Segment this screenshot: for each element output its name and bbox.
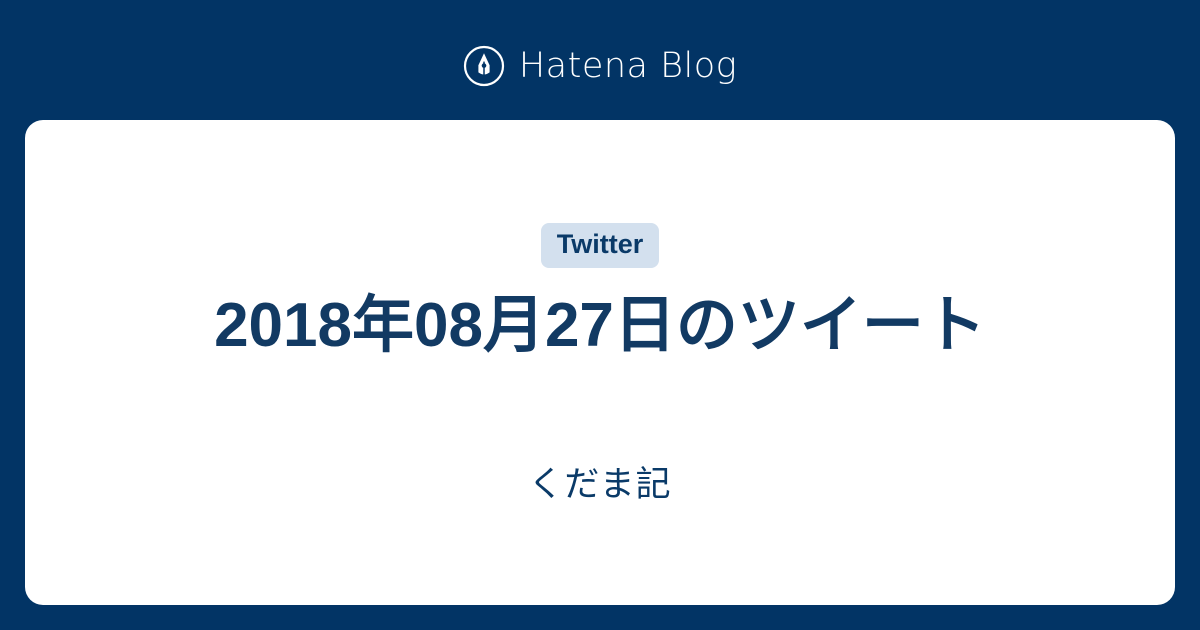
category-badge-row: Twitter	[25, 223, 1175, 268]
entry-card-content: Twitter 2018年08月27日のツイート くだま記	[25, 223, 1175, 501]
hatena-blog-logo	[463, 45, 505, 87]
entry-title: 2018年08月27日のツイート	[214, 290, 986, 361]
brand-name-label: Hatena Blog	[519, 49, 737, 84]
pen-nib-icon	[463, 45, 505, 87]
entry-card: Twitter 2018年08月27日のツイート くだま記	[25, 120, 1175, 605]
hatena-blog-brand: Hatena Blog	[0, 38, 1200, 94]
og-image-canvas: Hatena Blog Twitter 2018年08月27日のツイート くだま…	[0, 0, 1200, 630]
blog-name: くだま記	[528, 467, 671, 502]
category-badge[interactable]: Twitter	[541, 223, 660, 268]
